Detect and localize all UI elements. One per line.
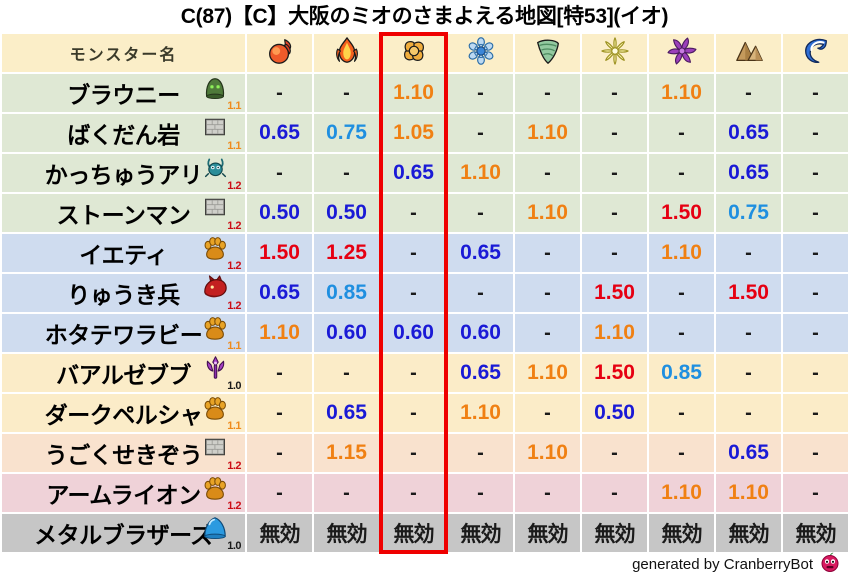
monster-name-cell[interactable]: かっちゅうアリ1.2 <box>2 154 245 192</box>
resistance-value: - <box>477 442 484 464</box>
resistance-value: 無効 <box>394 523 434 546</box>
resistance-cell-gira[interactable]: 0.50 <box>314 194 379 232</box>
resistance-cell-bagi[interactable]: 無効 <box>515 514 580 552</box>
resistance-cell-gira[interactable]: 1.15 <box>314 434 379 472</box>
resistance-value: 1.10 <box>661 481 702 504</box>
monster-name-label: ストーンマン <box>57 196 191 230</box>
resistance-cell-dorma[interactable]: - <box>649 434 714 472</box>
table-row: ストーンマン1.20.500.50--1.10-1.500.75- <box>2 194 848 232</box>
resistance-value: 0.65 <box>460 361 501 384</box>
resistance-value: 0.60 <box>393 321 434 344</box>
resistance-cell-jiba[interactable]: - <box>716 354 781 392</box>
resistance-value: - <box>812 322 819 344</box>
resistance-cell-dosu[interactable]: - <box>783 234 848 272</box>
table-row: メタルブラザーズ1.0無効無効無効無効無効無効無効無効無効 <box>2 514 848 552</box>
resistance-cell-dosu[interactable]: - <box>783 314 848 352</box>
resistance-cell-hyado[interactable]: 無効 <box>448 514 513 552</box>
resistance-value: - <box>812 442 819 464</box>
resistance-value: 1.50 <box>661 201 702 224</box>
resistance-cell-dorma[interactable]: 0.85 <box>649 354 714 392</box>
resistance-cell-io[interactable]: - <box>381 274 446 312</box>
resistance-value: - <box>812 402 819 424</box>
resistance-cell-mera[interactable]: - <box>247 434 312 472</box>
resistance-cell-gira[interactable]: 無効 <box>314 514 379 552</box>
resistance-cell-dein[interactable]: 1.50 <box>582 354 647 392</box>
resistance-cell-gira[interactable]: 0.65 <box>314 394 379 432</box>
resistance-value: 1.25 <box>326 241 367 264</box>
table-row: かっちゅうアリ1.2--0.651.10---0.65- <box>2 154 848 192</box>
monster-version-label: 1.2 <box>227 461 241 472</box>
resistance-value: 1.10 <box>527 201 568 224</box>
footer-label: generated by CranberryBot <box>632 556 813 573</box>
monster-version-label: 1.2 <box>227 261 241 272</box>
table-row: アームライオン1.2------1.101.10- <box>2 474 848 512</box>
resistance-cell-dein[interactable]: - <box>582 194 647 232</box>
resistance-cell-dein[interactable]: - <box>582 154 647 192</box>
header-element-dorma[interactable] <box>649 34 714 72</box>
resistance-cell-mera[interactable]: 0.65 <box>247 114 312 152</box>
resistance-cell-dorma[interactable]: - <box>649 394 714 432</box>
resistance-cell-dein[interactable]: - <box>582 474 647 512</box>
resistance-cell-dorma[interactable]: 1.10 <box>649 234 714 272</box>
resistance-cell-dosu[interactable]: 無効 <box>783 514 848 552</box>
monster-version-label: 1.1 <box>227 141 241 152</box>
resistance-value: - <box>276 482 283 504</box>
resistance-value: - <box>410 402 417 424</box>
resistance-cell-mera[interactable]: - <box>247 394 312 432</box>
resistance-cell-bagi[interactable]: - <box>515 234 580 272</box>
resistance-cell-jiba[interactable]: 0.65 <box>716 154 781 192</box>
resistance-cell-hyado[interactable]: - <box>448 274 513 312</box>
resistance-cell-io[interactable]: 1.10 <box>381 74 446 112</box>
monster-name-label: メタルブラザーズ <box>34 516 213 550</box>
resistance-cell-io[interactable]: - <box>381 234 446 272</box>
resistance-cell-dein[interactable]: 無効 <box>582 514 647 552</box>
monster-version-label: 1.2 <box>227 301 241 312</box>
resistance-cell-bagi[interactable]: 1.10 <box>515 114 580 152</box>
resistance-cell-io[interactable]: 無効 <box>381 514 446 552</box>
paw-icon <box>201 395 229 423</box>
resistance-cell-hyado[interactable]: - <box>448 434 513 472</box>
resistance-value: 1.10 <box>460 161 501 184</box>
cranberry-mascot-icon <box>819 551 841 577</box>
monster-family-badge: 1.2 <box>201 475 241 511</box>
monster-name-cell[interactable]: イエティ1.2 <box>2 234 245 272</box>
table-row: バアルゼブブ1.0---0.651.101.500.85-- <box>2 354 848 392</box>
resistance-cell-gira[interactable]: 1.25 <box>314 234 379 272</box>
wave-icon <box>801 36 831 66</box>
resistance-value: - <box>276 82 283 104</box>
blue-slime-icon <box>201 515 229 543</box>
resistance-cell-dein[interactable]: 1.50 <box>582 274 647 312</box>
resistance-cell-gira[interactable]: 0.85 <box>314 274 379 312</box>
table-row: ダークペルシャ1.1-0.65-1.10-0.50--- <box>2 394 848 432</box>
resistance-cell-hyado[interactable]: 1.10 <box>448 394 513 432</box>
table-row: りゅうき兵1.20.650.85---1.50-1.50- <box>2 274 848 312</box>
resistance-cell-dorma[interactable]: - <box>649 114 714 152</box>
green-slime-icon <box>201 75 229 103</box>
monster-name-label: うごくせきぞう <box>45 436 203 470</box>
resistance-value: - <box>410 242 417 264</box>
resistance-value: - <box>812 82 819 104</box>
resistance-value: - <box>410 282 417 304</box>
resistance-cell-dosu[interactable]: - <box>783 194 848 232</box>
resistance-cell-dorma[interactable]: - <box>649 314 714 352</box>
resistance-cell-gira[interactable]: - <box>314 474 379 512</box>
monster-name-cell[interactable]: ダークペルシャ1.1 <box>2 394 245 432</box>
resistance-value: 無効 <box>796 523 836 546</box>
monster-family-badge: 1.1 <box>201 395 241 431</box>
resistance-value: 0.65 <box>728 161 769 184</box>
monster-name-cell[interactable]: メタルブラザーズ1.0 <box>2 514 245 552</box>
resistance-value: - <box>544 242 551 264</box>
resistance-value: - <box>812 122 819 144</box>
resistance-value: 無効 <box>260 523 300 546</box>
monster-version-label: 1.2 <box>227 221 241 232</box>
header-element-mera[interactable] <box>247 34 312 72</box>
dragon-icon <box>201 275 229 303</box>
resistance-cell-jiba[interactable]: 1.50 <box>716 274 781 312</box>
resistance-cell-io[interactable]: - <box>381 394 446 432</box>
resistance-value: - <box>745 362 752 384</box>
page-title: C(87)【C】大阪のミオのさまよえる地図[特53](イオ) <box>0 0 849 32</box>
fireball-icon <box>265 36 295 66</box>
header-element-hyado[interactable] <box>448 34 513 72</box>
table-row: ばくだん岩1.10.650.751.05-1.10--0.65- <box>2 114 848 152</box>
resistance-value: 1.50 <box>594 281 635 304</box>
resistance-value: - <box>410 202 417 224</box>
monster-name-cell[interactable]: ストーンマン1.2 <box>2 194 245 232</box>
header-element-gira[interactable] <box>314 34 379 72</box>
resistance-cell-dosu[interactable]: - <box>783 394 848 432</box>
resistance-cell-bagi[interactable]: - <box>515 314 580 352</box>
resistance-cell-dosu[interactable]: - <box>783 74 848 112</box>
resistance-value: 1.10 <box>460 401 501 424</box>
resistance-cell-bagi[interactable]: - <box>515 394 580 432</box>
resistance-value: - <box>544 402 551 424</box>
resistance-value: - <box>343 362 350 384</box>
resistance-value: - <box>343 82 350 104</box>
resistance-cell-gira[interactable]: - <box>314 154 379 192</box>
resistance-value: - <box>477 282 484 304</box>
resistance-cell-gira[interactable]: - <box>314 354 379 392</box>
monster-version-label: 1.1 <box>227 341 241 352</box>
resistance-cell-jiba[interactable]: - <box>716 314 781 352</box>
resistance-value: 0.65 <box>259 281 300 304</box>
resistance-value: 無効 <box>528 523 568 546</box>
resistance-value: 0.65 <box>728 121 769 144</box>
table-body: ブラウニー1.1--1.10---1.10--ばくだん岩1.10.650.751… <box>2 74 848 552</box>
resistance-value: - <box>812 282 819 304</box>
resistance-value: - <box>276 162 283 184</box>
resistance-value: - <box>477 202 484 224</box>
monster-name-cell[interactable]: アームライオン1.2 <box>2 474 245 512</box>
resistance-cell-io[interactable]: 0.60 <box>381 314 446 352</box>
resistance-value: 0.65 <box>460 241 501 264</box>
monster-name-label: ホタテワラビー <box>45 316 203 350</box>
resistance-cell-dein[interactable]: - <box>582 114 647 152</box>
resistance-cell-dorma[interactable]: 1.50 <box>649 194 714 232</box>
resistance-cell-jiba[interactable]: - <box>716 234 781 272</box>
resistance-cell-dorma[interactable]: - <box>649 274 714 312</box>
resistance-cell-jiba[interactable]: 0.75 <box>716 194 781 232</box>
resistance-cell-bagi[interactable]: 1.10 <box>515 434 580 472</box>
monster-name-cell[interactable]: バアルゼブブ1.0 <box>2 354 245 392</box>
header-row: モンスター名 <box>2 34 848 72</box>
resistance-cell-hyado[interactable]: 1.10 <box>448 154 513 192</box>
resistance-cell-hyado[interactable]: - <box>448 114 513 152</box>
resistance-value: - <box>611 442 618 464</box>
monster-name-cell[interactable]: うごくせきぞう1.2 <box>2 434 245 472</box>
resistance-value: 1.50 <box>259 241 300 264</box>
resistance-value: - <box>611 202 618 224</box>
resistance-value: 0.50 <box>259 201 300 224</box>
table-row: ホタテワラビー1.11.100.600.600.60-1.10--- <box>2 314 848 352</box>
resistance-cell-jiba[interactable]: - <box>716 74 781 112</box>
resistance-value: - <box>745 322 752 344</box>
resistance-value: 1.05 <box>393 121 434 144</box>
explosion-icon <box>399 36 429 66</box>
resistance-cell-dorma[interactable]: - <box>649 154 714 192</box>
resistance-value: - <box>611 82 618 104</box>
resistance-cell-mera[interactable]: 0.65 <box>247 274 312 312</box>
resistance-cell-gira[interactable]: 0.60 <box>314 314 379 352</box>
monster-name-cell[interactable]: ブラウニー1.1 <box>2 74 245 112</box>
header-element-dosu[interactable] <box>783 34 848 72</box>
tornado-icon <box>533 36 563 66</box>
resistance-cell-hyado[interactable]: 0.65 <box>448 234 513 272</box>
resistance-cell-io[interactable]: - <box>381 194 446 232</box>
resistance-cell-dorma[interactable]: 無効 <box>649 514 714 552</box>
resistance-value: - <box>477 122 484 144</box>
header-monster-name: モンスター名 <box>2 34 245 72</box>
resistance-cell-dosu[interactable]: - <box>783 114 848 152</box>
resistance-value: - <box>276 402 283 424</box>
resistance-value: - <box>544 82 551 104</box>
resistance-value: - <box>343 162 350 184</box>
resistance-cell-bagi[interactable]: 1.10 <box>515 354 580 392</box>
resistance-cell-hyado[interactable]: - <box>448 74 513 112</box>
resistance-cell-dosu[interactable]: - <box>783 474 848 512</box>
resistance-cell-mera[interactable]: - <box>247 74 312 112</box>
resistance-cell-bagi[interactable]: - <box>515 154 580 192</box>
resistance-cell-gira[interactable]: - <box>314 74 379 112</box>
resistance-value: - <box>544 282 551 304</box>
header-element-io[interactable] <box>381 34 446 72</box>
resistance-cell-mera[interactable]: 1.10 <box>247 314 312 352</box>
resistance-cell-jiba[interactable]: 1.10 <box>716 474 781 512</box>
monster-name-label: バアルゼブブ <box>56 356 191 390</box>
monster-family-badge: 1.2 <box>201 275 241 311</box>
resistance-value: - <box>544 162 551 184</box>
resistance-cell-io[interactable]: - <box>381 474 446 512</box>
resistance-cell-mera[interactable]: - <box>247 154 312 192</box>
resistance-cell-dein[interactable]: - <box>582 74 647 112</box>
resistance-value: - <box>410 362 417 384</box>
header-element-bagi[interactable] <box>515 34 580 72</box>
monster-version-label: 1.2 <box>227 501 241 512</box>
resistance-value: - <box>678 402 685 424</box>
table-row: イエティ1.21.501.25-0.65--1.10-- <box>2 234 848 272</box>
resistance-cell-dein[interactable]: 0.50 <box>582 394 647 432</box>
paw-icon <box>201 475 229 503</box>
resistance-value: 無効 <box>595 523 635 546</box>
resistance-value: - <box>812 362 819 384</box>
resistance-value: 無効 <box>327 523 367 546</box>
brick-icon <box>201 195 229 223</box>
monster-family-badge: 1.0 <box>201 355 241 391</box>
resistance-value: - <box>611 162 618 184</box>
resistance-cell-mera[interactable]: 無効 <box>247 514 312 552</box>
resistance-cell-mera[interactable]: - <box>247 474 312 512</box>
resistance-value: 0.65 <box>259 121 300 144</box>
resistance-cell-jiba[interactable]: - <box>716 394 781 432</box>
resistance-value: - <box>678 122 685 144</box>
resistance-cell-jiba[interactable]: 0.65 <box>716 114 781 152</box>
resistance-value: 1.50 <box>728 281 769 304</box>
resistance-value: - <box>477 82 484 104</box>
header-element-jiba[interactable] <box>716 34 781 72</box>
resistance-value: - <box>812 162 819 184</box>
table-header-row: モンスター名 <box>2 34 848 72</box>
resistance-value: 0.65 <box>728 441 769 464</box>
monster-version-label: 1.0 <box>227 381 241 392</box>
resistance-cell-bagi[interactable]: - <box>515 74 580 112</box>
resistance-value: - <box>678 442 685 464</box>
monster-family-badge: 1.1 <box>201 315 241 351</box>
resistance-value: - <box>611 242 618 264</box>
resistance-cell-io[interactable]: 0.65 <box>381 154 446 192</box>
monster-family-badge: 1.2 <box>201 195 241 231</box>
resistance-cell-dein[interactable]: 1.10 <box>582 314 647 352</box>
trident-icon <box>201 355 229 383</box>
resistance-value: - <box>812 242 819 264</box>
resistance-value: 0.85 <box>326 281 367 304</box>
paw-icon <box>201 235 229 263</box>
snowflake-icon <box>466 36 496 66</box>
resistance-value: 1.10 <box>661 81 702 104</box>
brick-icon <box>201 115 229 143</box>
resistance-value: 0.75 <box>326 121 367 144</box>
resistance-value: - <box>611 122 618 144</box>
monster-family-badge: 1.1 <box>201 75 241 111</box>
resistance-value: - <box>477 482 484 504</box>
resistance-cell-io[interactable]: 1.05 <box>381 114 446 152</box>
resistance-value: 無効 <box>461 523 501 546</box>
resistance-cell-mera[interactable]: - <box>247 354 312 392</box>
paw-icon <box>201 315 229 343</box>
resistance-value: 1.10 <box>259 321 300 344</box>
monster-name-label: りゅうき兵 <box>67 276 180 310</box>
monster-family-badge: 1.0 <box>201 515 241 551</box>
resistance-value: - <box>611 482 618 504</box>
resistance-value: 0.75 <box>728 201 769 224</box>
resistance-cell-hyado[interactable]: - <box>448 194 513 232</box>
resistance-value: 1.10 <box>594 321 635 344</box>
resistance-value: - <box>276 362 283 384</box>
resistance-cell-hyado[interactable]: 0.60 <box>448 314 513 352</box>
resistance-value: 無効 <box>662 523 702 546</box>
footer: generated by CranberryBot <box>632 551 841 577</box>
resistance-cell-bagi[interactable]: - <box>515 274 580 312</box>
resistance-cell-dorma[interactable]: 1.10 <box>649 474 714 512</box>
table-row: うごくせきぞう1.2-1.15--1.10--0.65- <box>2 434 848 472</box>
resistance-cell-dosu[interactable]: - <box>783 434 848 472</box>
resistance-cell-dosu[interactable]: - <box>783 274 848 312</box>
resistance-value: - <box>343 482 350 504</box>
resistance-value: 1.10 <box>527 121 568 144</box>
resistance-cell-dein[interactable]: - <box>582 434 647 472</box>
monster-name-cell[interactable]: ばくだん岩1.1 <box>2 114 245 152</box>
monster-family-badge: 1.1 <box>201 115 241 151</box>
resistance-cell-gira[interactable]: 0.75 <box>314 114 379 152</box>
resistance-cell-dorma[interactable]: 1.10 <box>649 74 714 112</box>
monster-family-badge: 1.2 <box>201 435 241 471</box>
resistance-value: 0.50 <box>326 201 367 224</box>
resistance-value: - <box>745 242 752 264</box>
resistance-value: 1.10 <box>393 81 434 104</box>
resistance-value: - <box>745 82 752 104</box>
resistance-cell-mera[interactable]: 1.50 <box>247 234 312 272</box>
resistance-value: - <box>276 442 283 464</box>
resistance-value: 0.65 <box>326 401 367 424</box>
resistance-value: - <box>745 402 752 424</box>
monster-name-label: ばくだん岩 <box>67 116 180 150</box>
resistance-cell-dein[interactable]: - <box>582 234 647 272</box>
resistance-value: 1.10 <box>527 441 568 464</box>
mountain-icon <box>734 36 764 66</box>
monster-version-label: 1.2 <box>227 181 241 192</box>
resistance-cell-dosu[interactable]: - <box>783 154 848 192</box>
resistance-value: - <box>544 482 551 504</box>
resistance-cell-jiba[interactable]: 0.65 <box>716 434 781 472</box>
monster-version-label: 1.1 <box>227 101 241 112</box>
resistance-cell-io[interactable]: - <box>381 434 446 472</box>
monster-name-label: イエティ <box>79 236 167 270</box>
resistance-value: - <box>678 162 685 184</box>
resistance-cell-bagi[interactable]: 1.10 <box>515 194 580 232</box>
resistance-cell-jiba[interactable]: 無効 <box>716 514 781 552</box>
monster-name-cell[interactable]: ホタテワラビー1.1 <box>2 314 245 352</box>
resistance-value: - <box>410 442 417 464</box>
monster-resistance-table: モンスター名 ブラウニー1.1--1.10---1.10--ばくだん岩1.10.… <box>0 32 849 554</box>
resistance-cell-dosu[interactable]: - <box>783 354 848 392</box>
resistance-cell-mera[interactable]: 0.50 <box>247 194 312 232</box>
resistance-value: - <box>410 482 417 504</box>
resistance-value: - <box>812 202 819 224</box>
resistance-cell-hyado[interactable]: - <box>448 474 513 512</box>
resistance-value: 1.15 <box>326 441 367 464</box>
resistance-value: 1.10 <box>527 361 568 384</box>
header-element-dein[interactable] <box>582 34 647 72</box>
resistance-cell-bagi[interactable]: - <box>515 474 580 512</box>
resistance-value: 0.50 <box>594 401 635 424</box>
monster-name-cell[interactable]: りゅうき兵1.2 <box>2 274 245 312</box>
darkpinwheel-icon <box>667 36 697 66</box>
resistance-value: - <box>678 322 685 344</box>
resistance-value: 1.10 <box>728 481 769 504</box>
monster-version-label: 1.1 <box>227 421 241 432</box>
monster-name-label: かっちゅうアリ <box>45 156 203 190</box>
monster-family-badge: 1.2 <box>201 235 241 271</box>
resistance-value: 1.10 <box>661 241 702 264</box>
monster-version-label: 1.0 <box>227 541 241 552</box>
resistance-cell-hyado[interactable]: 0.65 <box>448 354 513 392</box>
resistance-cell-io[interactable]: - <box>381 354 446 392</box>
resistance-value: - <box>544 322 551 344</box>
resistance-value: 無効 <box>729 523 769 546</box>
resistance-value: - <box>812 482 819 504</box>
